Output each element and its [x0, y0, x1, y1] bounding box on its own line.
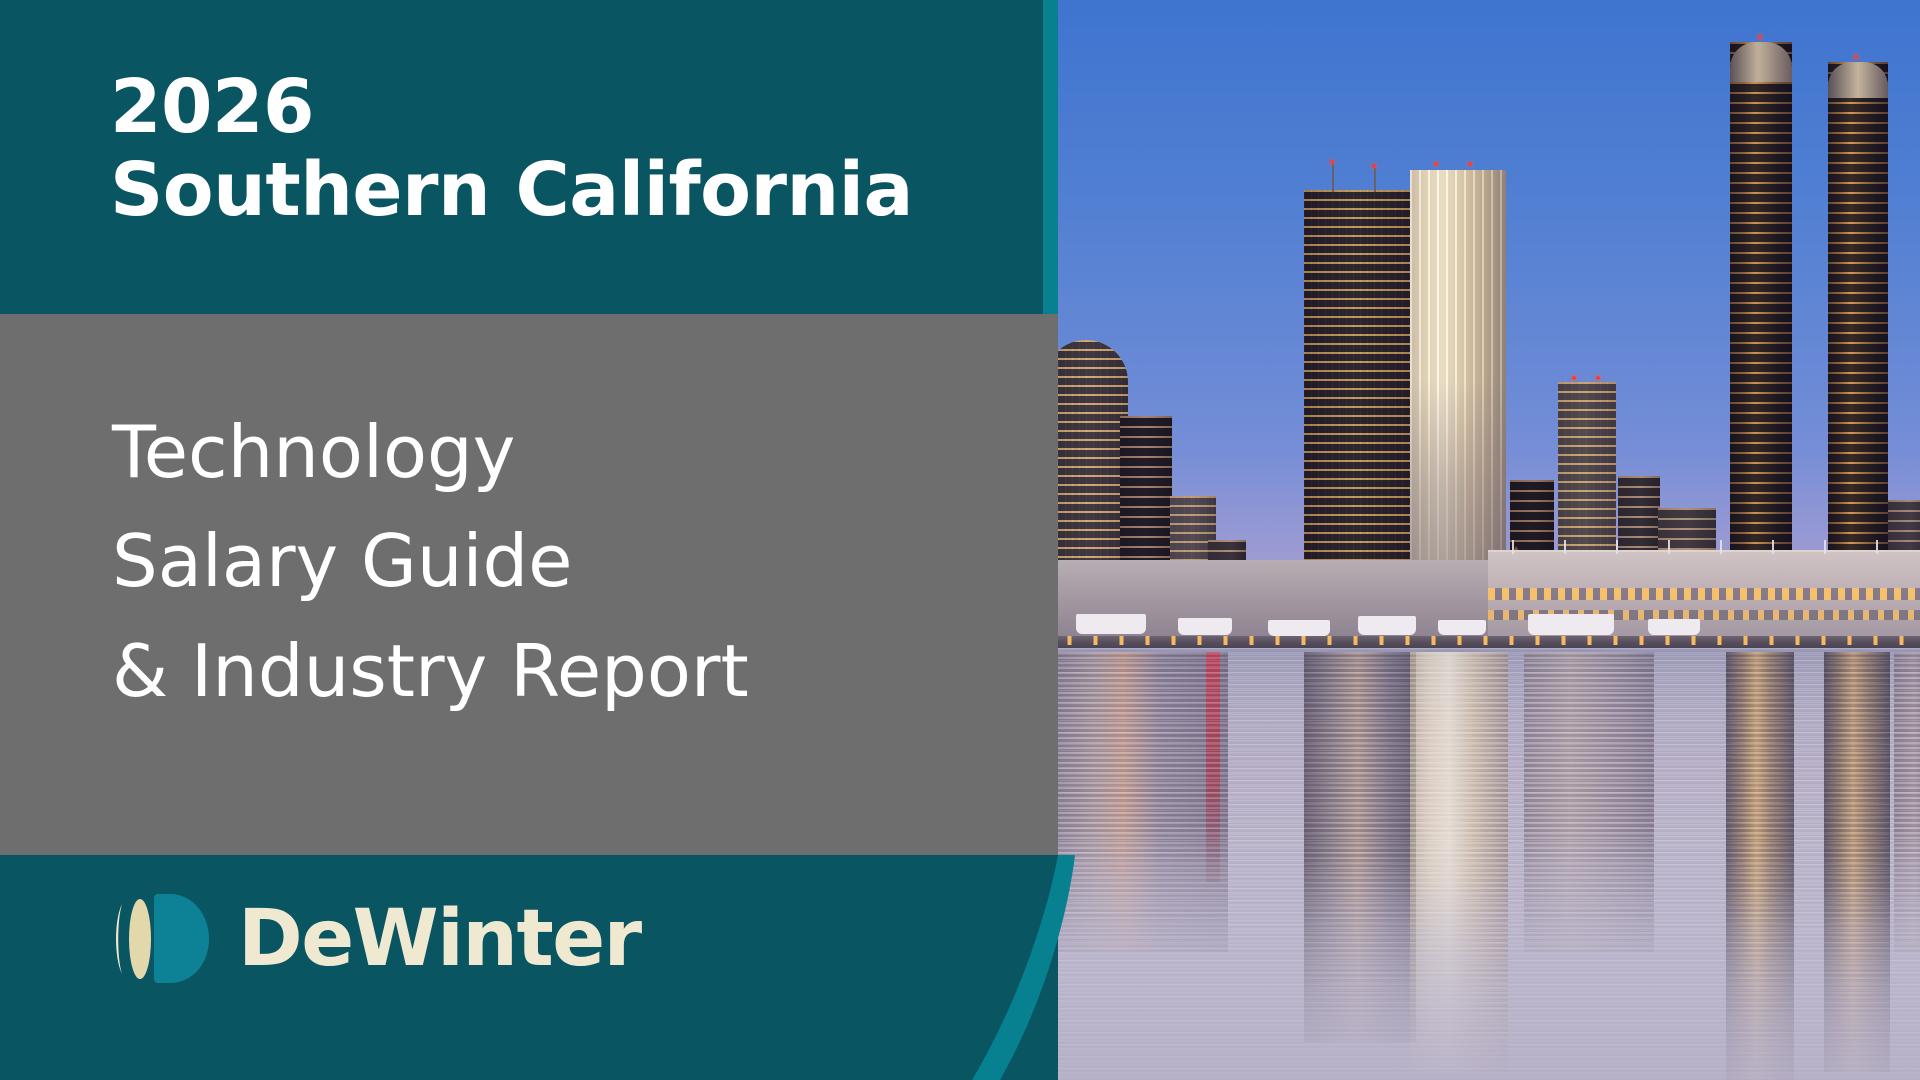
report-cover: 2026 Southern California Technology Sala…: [0, 0, 1920, 1080]
subtitle-line-industry-report: & Industry Report: [112, 617, 992, 726]
accent-stripe-top: [1043, 0, 1058, 314]
title-line-year: 2026: [110, 66, 1010, 149]
title-line-region: Southern California: [110, 149, 1010, 232]
water-foreground-fade: [1058, 840, 1920, 1080]
marina-boat: [1358, 616, 1416, 635]
subtitle-line-salary-guide: Salary Guide: [112, 507, 992, 616]
subtitle-line-technology: Technology: [112, 398, 992, 507]
marina-boat: [1178, 618, 1232, 635]
dewinter-lens-mark-icon: [108, 886, 216, 991]
page-title: 2026 Southern California: [110, 66, 1010, 232]
dewinter-logo: DeWinter: [108, 886, 641, 991]
marina-boat: [1438, 620, 1486, 635]
marina-boat: [1648, 619, 1700, 635]
sailboat-masts: [1488, 540, 1920, 554]
marina-boat: [1076, 614, 1146, 634]
shoreline-lights: [1058, 636, 1920, 645]
dewinter-wordmark: DeWinter: [238, 900, 641, 978]
page-subtitle: Technology Salary Guide & Industry Repor…: [112, 398, 992, 726]
marina-boat: [1528, 614, 1614, 635]
cover-left-panel: 2026 Southern California Technology Sala…: [0, 0, 1075, 1080]
convention-center-windows: [1488, 588, 1920, 600]
san-diego-skyline-photo: [1058, 0, 1920, 1080]
marina-boat: [1268, 620, 1330, 636]
